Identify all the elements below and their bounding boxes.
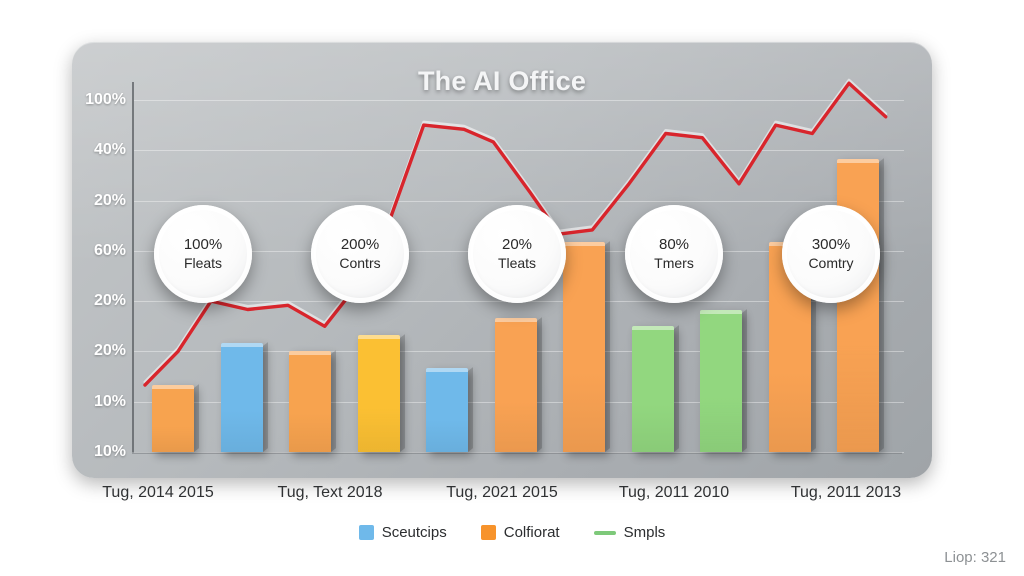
legend-label: Smpls (624, 524, 666, 541)
gridline (134, 452, 904, 453)
x-axis-label: Tug, 2011 2013 (760, 484, 932, 508)
callout-badge[interactable]: 200%Contrs (311, 205, 409, 303)
legend-item[interactable]: Colfiorat (481, 524, 560, 541)
callout-badge[interactable]: 80%Tmers (625, 205, 723, 303)
callout-label: Tleats (498, 255, 536, 273)
y-tick-label: 20% (94, 342, 126, 360)
chart-panel: The AI Office 100%40%20%60%20%20%10%10% … (72, 42, 932, 478)
y-tick-label: 20% (94, 192, 126, 210)
y-axis-ticks: 100%40%20%60%20%20%10%10% (72, 100, 134, 452)
callout-badge[interactable]: 100%Fleats (154, 205, 252, 303)
callout-value: 80% (659, 236, 689, 255)
y-tick-label: 40% (94, 141, 126, 159)
x-axis-label: Tug, 2021 2015 (416, 484, 588, 508)
y-tick-label: 60% (94, 242, 126, 260)
legend-item[interactable]: Smpls (594, 524, 666, 541)
callout-label: Contrs (339, 255, 380, 273)
callout-badge[interactable]: 300%Comtry (782, 205, 880, 303)
page-title: The AI Office (72, 66, 932, 97)
legend-swatch-icon (359, 525, 374, 540)
callout-value: 200% (341, 236, 379, 255)
legend-label: Sceutcips (382, 524, 447, 541)
callout-value: 100% (184, 236, 222, 255)
callout-label: Fleats (184, 255, 222, 273)
y-tick-label: 10% (94, 443, 126, 461)
callout-label: Tmers (654, 255, 694, 273)
callout-label: Comtry (808, 255, 853, 273)
x-axis-label: Tug, 2011 2010 (588, 484, 760, 508)
x-axis-labels: Tug, 2014 2015Tug, Text 2018Tug, 2021 20… (72, 484, 932, 508)
x-axis-label: Tug, 2014 2015 (72, 484, 244, 508)
callout-value: 20% (502, 236, 532, 255)
legend-line-icon (594, 531, 616, 535)
callout-badge[interactable]: 20%Tleats (468, 205, 566, 303)
y-tick-label: 100% (85, 91, 126, 109)
legend-item[interactable]: Sceutcips (359, 524, 447, 541)
legend-swatch-icon (481, 525, 496, 540)
watermark: Liop: 321 (944, 549, 1006, 566)
legend-label: Colfiorat (504, 524, 560, 541)
chart-legend: SceutcipsColfioratSmpls (0, 524, 1024, 541)
y-tick-label: 20% (94, 292, 126, 310)
plot-area: 100%Fleats200%Contrs20%Tleats80%Tmers300… (134, 100, 904, 452)
x-axis-label: Tug, Text 2018 (244, 484, 416, 508)
y-tick-label: 10% (94, 393, 126, 411)
callout-value: 300% (812, 236, 850, 255)
